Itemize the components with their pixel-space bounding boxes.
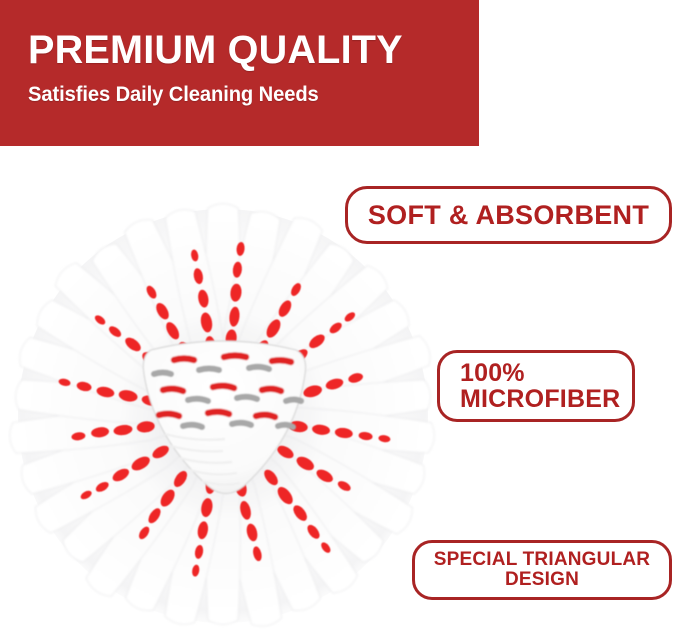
banner-title: PREMIUM QUALITY [28,30,403,70]
callout-soft-absorbent: SOFT & ABSORBENT [345,186,672,244]
callout-soft-absorbent-label: SOFT & ABSORBENT [368,201,649,230]
callout-triangular-design: SPECIAL TRIANGULAR DESIGN [412,540,672,600]
callout-microfiber: 100% MICROFIBER [437,350,635,422]
header-banner: PREMIUM QUALITY Satisfies Daily Cleaning… [0,0,479,146]
banner-subtitle: Satisfies Daily Cleaning Needs [28,84,319,105]
callout-triangular-design-label: SPECIAL TRIANGULAR DESIGN [434,550,650,590]
callout-microfiber-label: 100% MICROFIBER [460,360,620,413]
product-photo-mop-head [8,198,438,634]
product-image-canvas: PREMIUM QUALITY Satisfies Daily Cleaning… [0,0,679,634]
